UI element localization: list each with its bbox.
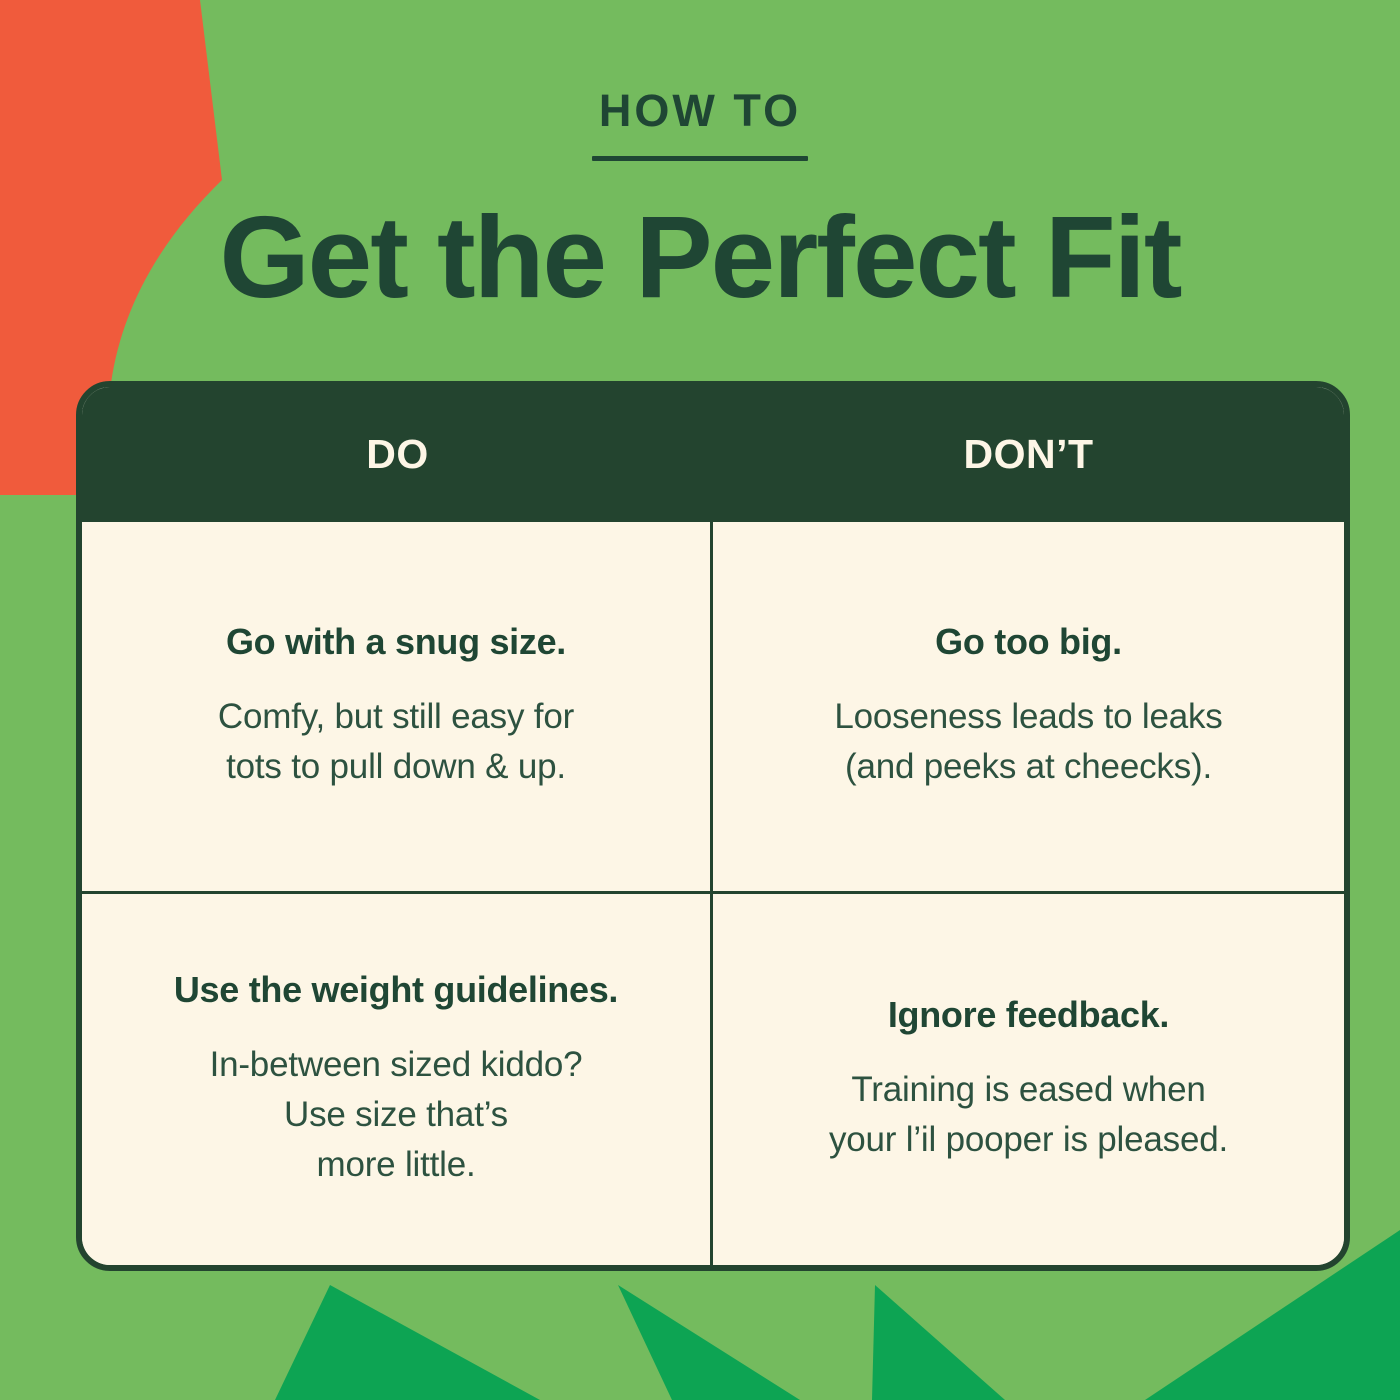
cell-body: Comfy, but still easy fortots to pull do… xyxy=(218,692,574,791)
cell-title: Ignore feedback. xyxy=(888,994,1169,1035)
card-body-grid: Go with a snug size. Comfy, but still ea… xyxy=(82,522,1344,1265)
cell-body: Looseness leads to leaks(and peeks at ch… xyxy=(834,692,1222,791)
poster-canvas: HOW TO Get the Perfect Fit DO DON’T Go w… xyxy=(0,0,1400,1400)
cell-do-row-1: Go with a snug size. Comfy, but still ea… xyxy=(82,522,713,894)
eyebrow-label: HOW TO xyxy=(0,0,1400,133)
cell-body: Training is eased whenyour l’il pooper i… xyxy=(829,1065,1228,1164)
cell-body: In-between sized kiddo?Use size that’smo… xyxy=(210,1040,583,1189)
column-header-do: DO xyxy=(82,387,713,522)
page-title: Get the Perfect Fit xyxy=(0,161,1400,315)
cell-dont-row-1: Go too big. Looseness leads to leaks(and… xyxy=(713,522,1344,894)
cell-title: Go with a snug size. xyxy=(226,621,566,662)
column-header-dont: DON’T xyxy=(713,387,1344,522)
cell-do-row-2: Use the weight guidelines. In-between si… xyxy=(82,894,713,1266)
do-dont-card: DO DON’T Go with a snug size. Comfy, but… xyxy=(76,381,1350,1271)
cell-title: Go too big. xyxy=(935,621,1122,662)
cell-title: Use the weight guidelines. xyxy=(174,969,618,1010)
poster-header: HOW TO Get the Perfect Fit xyxy=(0,0,1400,315)
cell-dont-row-2: Ignore feedback. Training is eased wheny… xyxy=(713,894,1344,1266)
card-header-row: DO DON’T xyxy=(82,387,1344,522)
